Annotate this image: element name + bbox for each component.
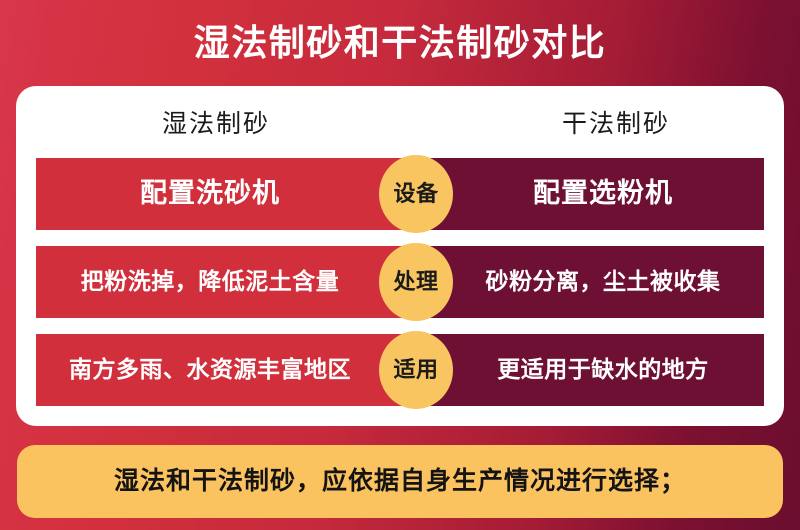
row-cell-dry-label: 配置选粉机 xyxy=(533,179,673,209)
page-title: 湿法制砂和干法制砂对比 xyxy=(194,25,607,61)
footer-banner-label: 湿法和干法制砂，应依据自身生产情况进行选择； xyxy=(114,469,686,494)
footer-banner: 湿法和干法制砂，应依据自身生产情况进行选择； xyxy=(17,445,783,518)
row-cell-wet-label: 配置洗砂机 xyxy=(140,179,280,209)
column-header-row: 湿法制砂 干法制砂 xyxy=(16,100,784,148)
table-row: 把粉洗掉，降低泥土含量 砂粉分离，尘土被收集 处理 xyxy=(36,246,764,318)
table-row: 南方多雨、水资源丰富地区 更适用于缺水的地方 适用 xyxy=(36,334,764,406)
row-badge-label: 适用 xyxy=(393,359,438,381)
row-badge: 处理 xyxy=(379,243,453,321)
column-header-wet: 湿法制砂 xyxy=(116,100,316,148)
comparison-card: 湿法制砂 干法制砂 配置洗砂机 配置选粉机 设备 把粉洗掉，降低泥土含量 xyxy=(16,86,784,426)
row-cell-dry: 更适用于缺水的地方 xyxy=(418,334,764,406)
row-cell-wet-label: 把粉洗掉，降低泥土含量 xyxy=(81,269,340,294)
row-cell-dry: 砂粉分离，尘土被收集 xyxy=(418,246,764,318)
row-cell-wet-label: 南方多雨、水资源丰富地区 xyxy=(69,357,351,382)
row-cell-wet: 配置洗砂机 xyxy=(36,158,418,230)
row-badge: 设备 xyxy=(379,155,453,233)
row-badge: 适用 xyxy=(379,331,453,409)
poster-title-bar: 湿法制砂和干法制砂对比 xyxy=(0,0,800,85)
infographic-poster: 湿法制砂和干法制砂对比 湿法制砂 干法制砂 配置洗砂机 配置选粉机 设备 把 xyxy=(0,0,800,530)
row-cell-dry-label: 砂粉分离，尘土被收集 xyxy=(486,269,721,294)
row-cell-wet: 南方多雨、水资源丰富地区 xyxy=(36,334,418,406)
comparison-rows: 配置洗砂机 配置选粉机 设备 把粉洗掉，降低泥土含量 砂粉分离，尘土被收集 处理 xyxy=(36,158,764,406)
row-badge-label: 处理 xyxy=(393,271,438,293)
table-row: 配置洗砂机 配置选粉机 设备 xyxy=(36,158,764,230)
row-cell-dry: 配置选粉机 xyxy=(418,158,764,230)
column-header-dry: 干法制砂 xyxy=(516,100,716,148)
row-badge-label: 设备 xyxy=(393,183,438,205)
row-cell-dry-label: 更适用于缺水的地方 xyxy=(497,357,709,382)
row-cell-wet: 把粉洗掉，降低泥土含量 xyxy=(36,246,418,318)
